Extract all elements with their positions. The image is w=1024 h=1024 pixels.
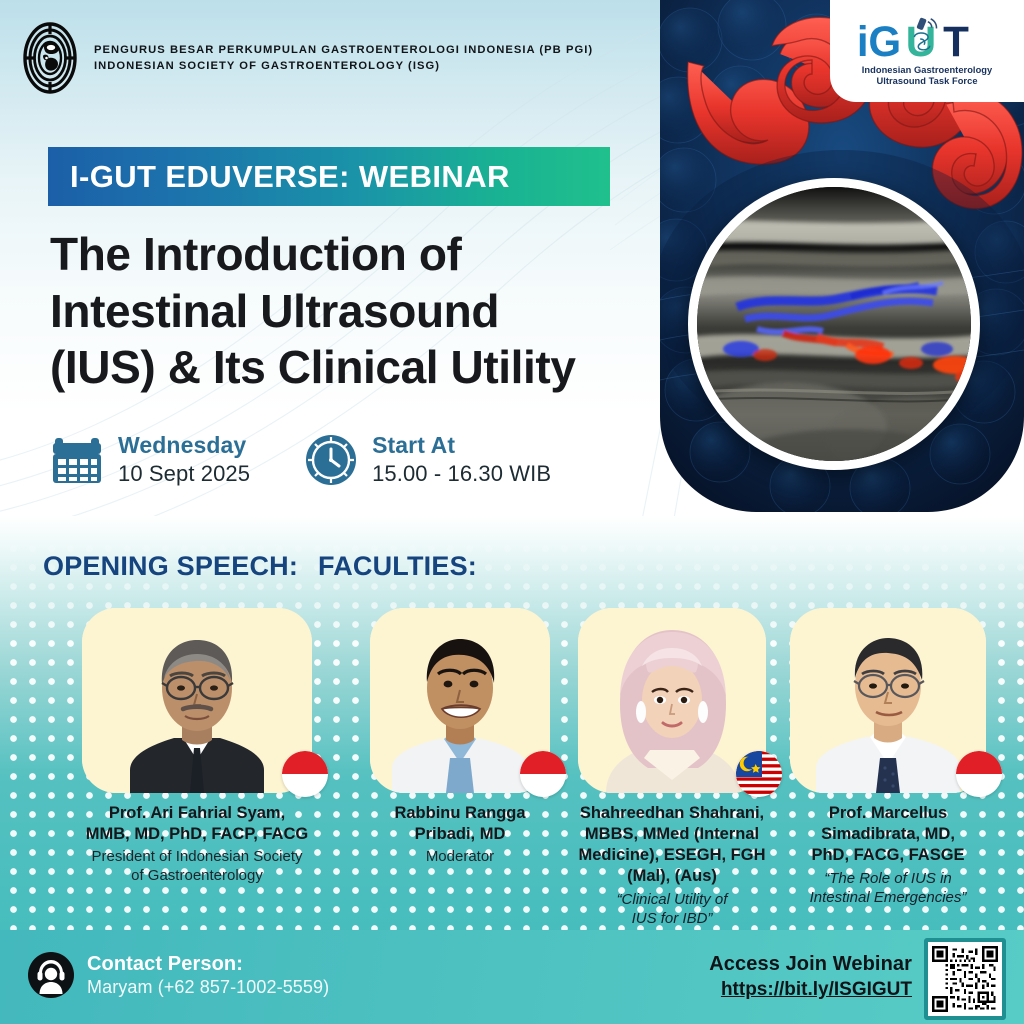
webinar-ribbon-banner: I-GUT EDUVERSE: WEBINAR (48, 147, 610, 206)
igut-tagline-line1: Indonesian Gastroenterology (862, 65, 993, 76)
section-label-faculties: FACULTIES: (318, 551, 477, 582)
malaysia-flag-icon (736, 751, 782, 797)
pgi-emblem-icon (22, 22, 78, 94)
access-label: Access Join Webinar (709, 952, 912, 976)
page-title: The Introduction of Intestinal Ultrasoun… (50, 226, 660, 396)
speaker-photo-ari-fahrial-syam (82, 608, 312, 793)
speaker-card-1: Prof. Ari Fahrial Syam,MMB, MD, PhD, FAC… (82, 608, 312, 885)
speaker-name-2: Rabbinu RanggaPribadi, MD (370, 803, 550, 845)
speaker-topic-3: “Clinical Utility ofIUS for IBD” (578, 890, 766, 928)
speaker-photo-wrap-2 (370, 608, 550, 793)
org-name-english: INDONESIAN SOCIETY OF GASTROENTEROLOGY (… (94, 58, 593, 74)
title-line-1: The Introduction of (50, 226, 660, 283)
ribbon-label: I-GUT EDUVERSE: WEBINAR (48, 159, 510, 195)
speaker-text-4: Prof. MarcellusSimadibrata, MD,PhD, FACG… (790, 803, 986, 907)
event-date-value: 10 Sept 2025 (118, 461, 250, 487)
contact-value: Maryam (+62 857-1002-5559) (87, 977, 329, 999)
access-url-link[interactable]: https://bit.ly/ISGIGUT (709, 978, 912, 1001)
section-label-opening-speech: OPENING SPEECH: (43, 551, 298, 582)
contact-label: Contact Person: (87, 952, 329, 976)
event-date-label: Wednesday (118, 432, 250, 459)
doppler-ultrasound-image (688, 178, 980, 470)
event-time: Start At 15.00 - 16.30 WIB (304, 432, 551, 487)
speaker-photo-wrap-4 (790, 608, 986, 793)
event-time-label: Start At (372, 432, 551, 459)
speaker-photo-wrap-3 (578, 608, 766, 793)
speaker-topic-4: “The Role of IUS inIntestinal Emergencie… (790, 869, 986, 907)
speaker-name-3: Shahreedhan Shahrani,MBBS, MMed (Interna… (578, 803, 766, 887)
igut-wordmark-icon: i G U T (855, 16, 999, 62)
speaker-name-1: Prof. Ari Fahrial Syam,MMB, MD, PhD, FAC… (82, 803, 312, 845)
speaker-photo-wrap-1 (82, 608, 312, 793)
indonesia-flag-icon (520, 751, 566, 797)
speaker-card-3: Shahreedhan Shahrani,MBBS, MMed (Interna… (578, 608, 766, 928)
title-line-3: (IUS) & Its Clinical Utility (50, 339, 660, 396)
speaker-card-4: Prof. MarcellusSimadibrata, MD,PhD, FACG… (790, 608, 986, 907)
speaker-text-3: Shahreedhan Shahrani,MBBS, MMed (Interna… (578, 803, 766, 928)
speaker-text-1: Prof. Ari Fahrial Syam,MMB, MD, PhD, FAC… (82, 803, 312, 885)
igut-tagline: Indonesian Gastroenterology Ultrasound T… (862, 65, 993, 87)
qr-code-icon[interactable] (924, 938, 1006, 1020)
event-time-value: 15.00 - 16.30 WIB (372, 461, 551, 487)
calendar-icon (50, 433, 104, 487)
svg-text:T: T (943, 18, 969, 62)
speakers-list: Prof. Ari Fahrial Syam,MMB, MD, PhD, FAC… (0, 608, 1024, 938)
clock-icon (304, 433, 358, 487)
webinar-poster: PENGURUS BESAR PERKUMPULAN GASTROENTEROL… (0, 0, 1024, 1024)
title-line-2: Intestinal Ultrasound (50, 283, 660, 340)
speaker-card-2: Rabbinu RanggaPribadi, MD Moderator (370, 608, 550, 866)
org-name-indonesian: PENGURUS BESAR PERKUMPULAN GASTROENTEROL… (94, 42, 593, 58)
speaker-role-1: President of Indonesian Societyof Gastro… (82, 847, 312, 885)
svg-text:i: i (857, 18, 869, 62)
speaker-name-4: Prof. MarcellusSimadibrata, MD,PhD, FACG… (790, 803, 986, 866)
igut-logo-card: i G U T Indonesian Gastroenterology Ultr… (830, 0, 1024, 102)
svg-text:G: G (869, 18, 902, 62)
igut-tagline-line2: Ultrasound Task Force (862, 76, 993, 87)
headset-support-icon (28, 952, 74, 998)
organization-names: PENGURUS BESAR PERKUMPULAN GASTROENTEROL… (94, 42, 593, 74)
access-webinar-block: Access Join Webinar https://bit.ly/ISGIG… (709, 952, 912, 1002)
speaker-text-2: Rabbinu RanggaPribadi, MD Moderator (370, 803, 550, 866)
organization-header: PENGURUS BESAR PERKUMPULAN GASTROENTEROL… (22, 22, 593, 94)
indonesia-flag-icon (956, 751, 1002, 797)
contact-person-block: Contact Person: Maryam (+62 857-1002-555… (28, 952, 329, 999)
speaker-role-2: Moderator (370, 847, 550, 866)
indonesia-flag-icon (282, 751, 328, 797)
event-meta: Wednesday 10 Sept 2025 Start At (50, 432, 551, 487)
event-date: Wednesday 10 Sept 2025 (50, 432, 250, 487)
